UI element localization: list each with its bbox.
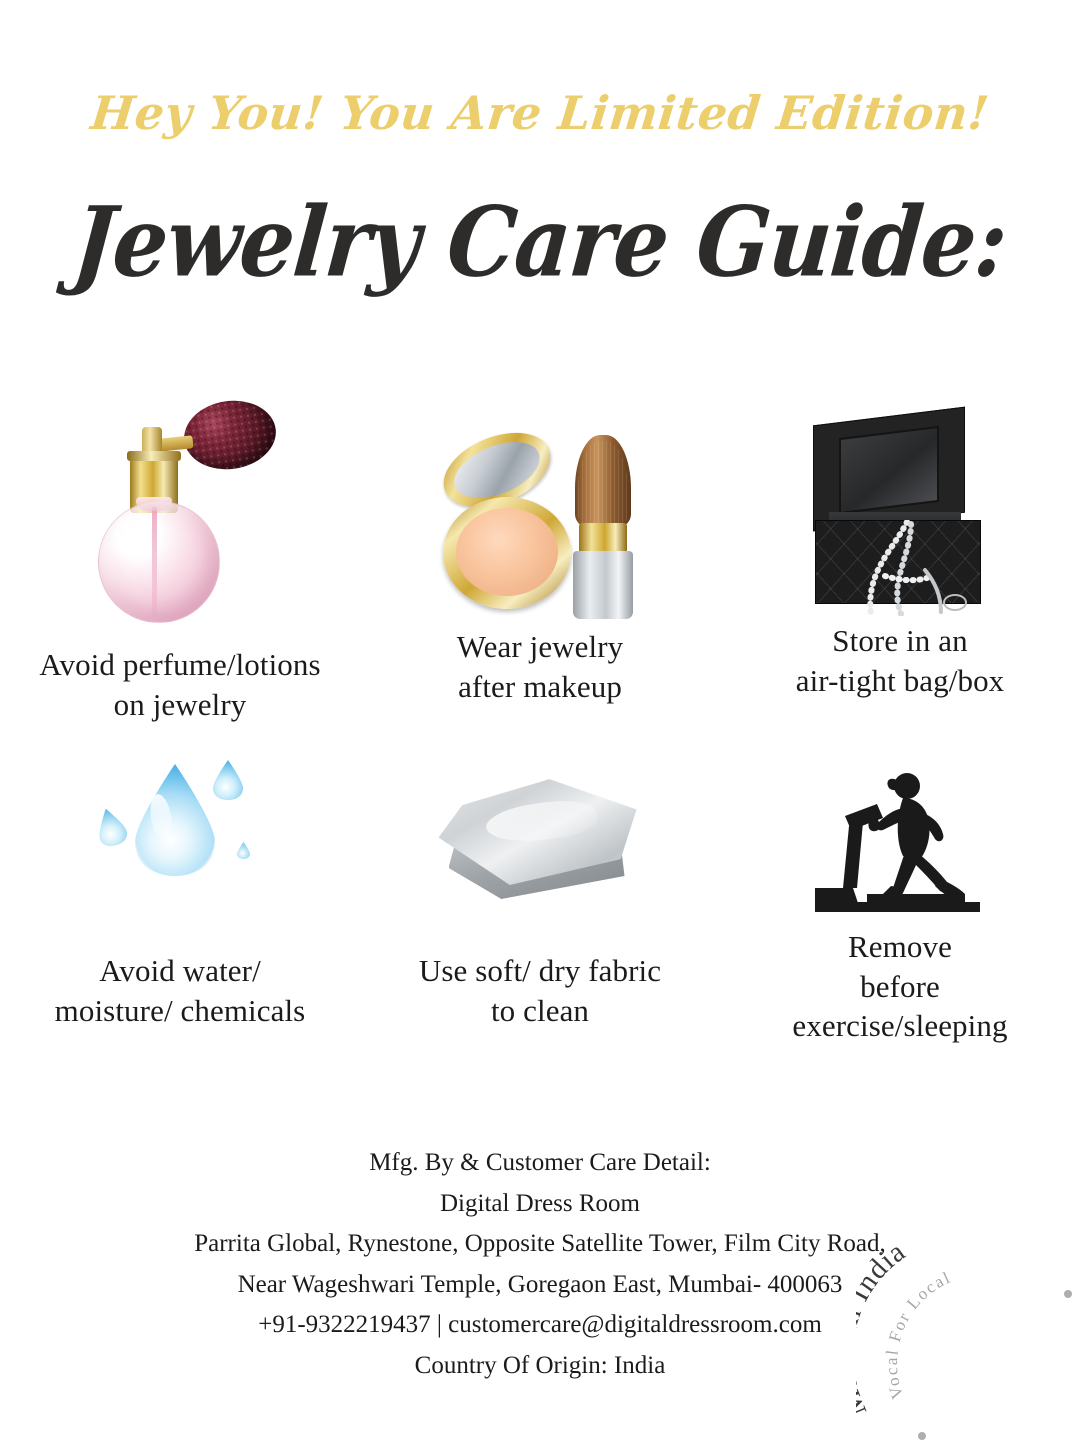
- footer-line-company-name: Digital Dress Room: [0, 1184, 1080, 1225]
- care-tip-avoid-water: Avoid water/ moisture/ chemicals: [0, 750, 360, 1070]
- footer-line-mfg-label: Mfg. By & Customer Care Detail:: [0, 1143, 1080, 1184]
- care-tips-row-2: Avoid water/ moisture/ chemicals Use sof…: [0, 750, 1080, 1070]
- care-tips-row-1: Avoid perfume/lotions on jewelry Wear je…: [0, 378, 1080, 750]
- care-tip-remove-before-exercise: Remove before exercise/sleeping: [720, 750, 1080, 1070]
- page-title: Jewelry Care Guide:: [0, 186, 1080, 299]
- care-tip-caption: Use soft/ dry fabric to clean: [419, 951, 661, 1030]
- jewelry-box-icon: [720, 378, 1080, 623]
- care-tip-caption: Wear jewelry after makeup: [457, 627, 624, 706]
- microfiber-cloth-icon: [360, 750, 720, 925]
- tagline: Hey You! You Are Limited Edition!: [0, 86, 1080, 140]
- care-tip-store-airtight: Store in an air-tight bag/box: [720, 378, 1080, 750]
- care-tip-use-soft-fabric: Use soft/ dry fabric to clean: [360, 750, 720, 1070]
- care-tips-grid: Avoid perfume/lotions on jewelry Wear je…: [0, 378, 1080, 1070]
- badge-inner-text: Vocal For Local: [882, 1267, 954, 1401]
- care-tip-wear-after-makeup: Wear jewelry after makeup: [360, 378, 720, 750]
- care-tip-caption: Avoid perfume/lotions on jewelry: [39, 645, 320, 724]
- treadmill-runner-icon: [720, 750, 1080, 925]
- care-tip-avoid-perfume: Avoid perfume/lotions on jewelry: [0, 378, 360, 750]
- badge-dot-left: [918, 1432, 926, 1440]
- badge-dot-right: [1064, 1290, 1072, 1298]
- care-tip-caption: Store in an air-tight bag/box: [796, 621, 1005, 700]
- perfume-bottle-icon: [0, 378, 360, 623]
- care-tip-caption: Remove before exercise/sleeping: [792, 927, 1007, 1046]
- water-droplet-icon: [0, 750, 360, 925]
- care-tip-caption: Avoid water/ moisture/ chemicals: [55, 951, 306, 1030]
- badge-inner-textpath: Vocal For Local: [882, 1267, 954, 1401]
- makeup-compact-brush-icon: [360, 378, 720, 623]
- made-in-india-badge: Made In India Vocal For Local: [856, 1224, 1080, 1454]
